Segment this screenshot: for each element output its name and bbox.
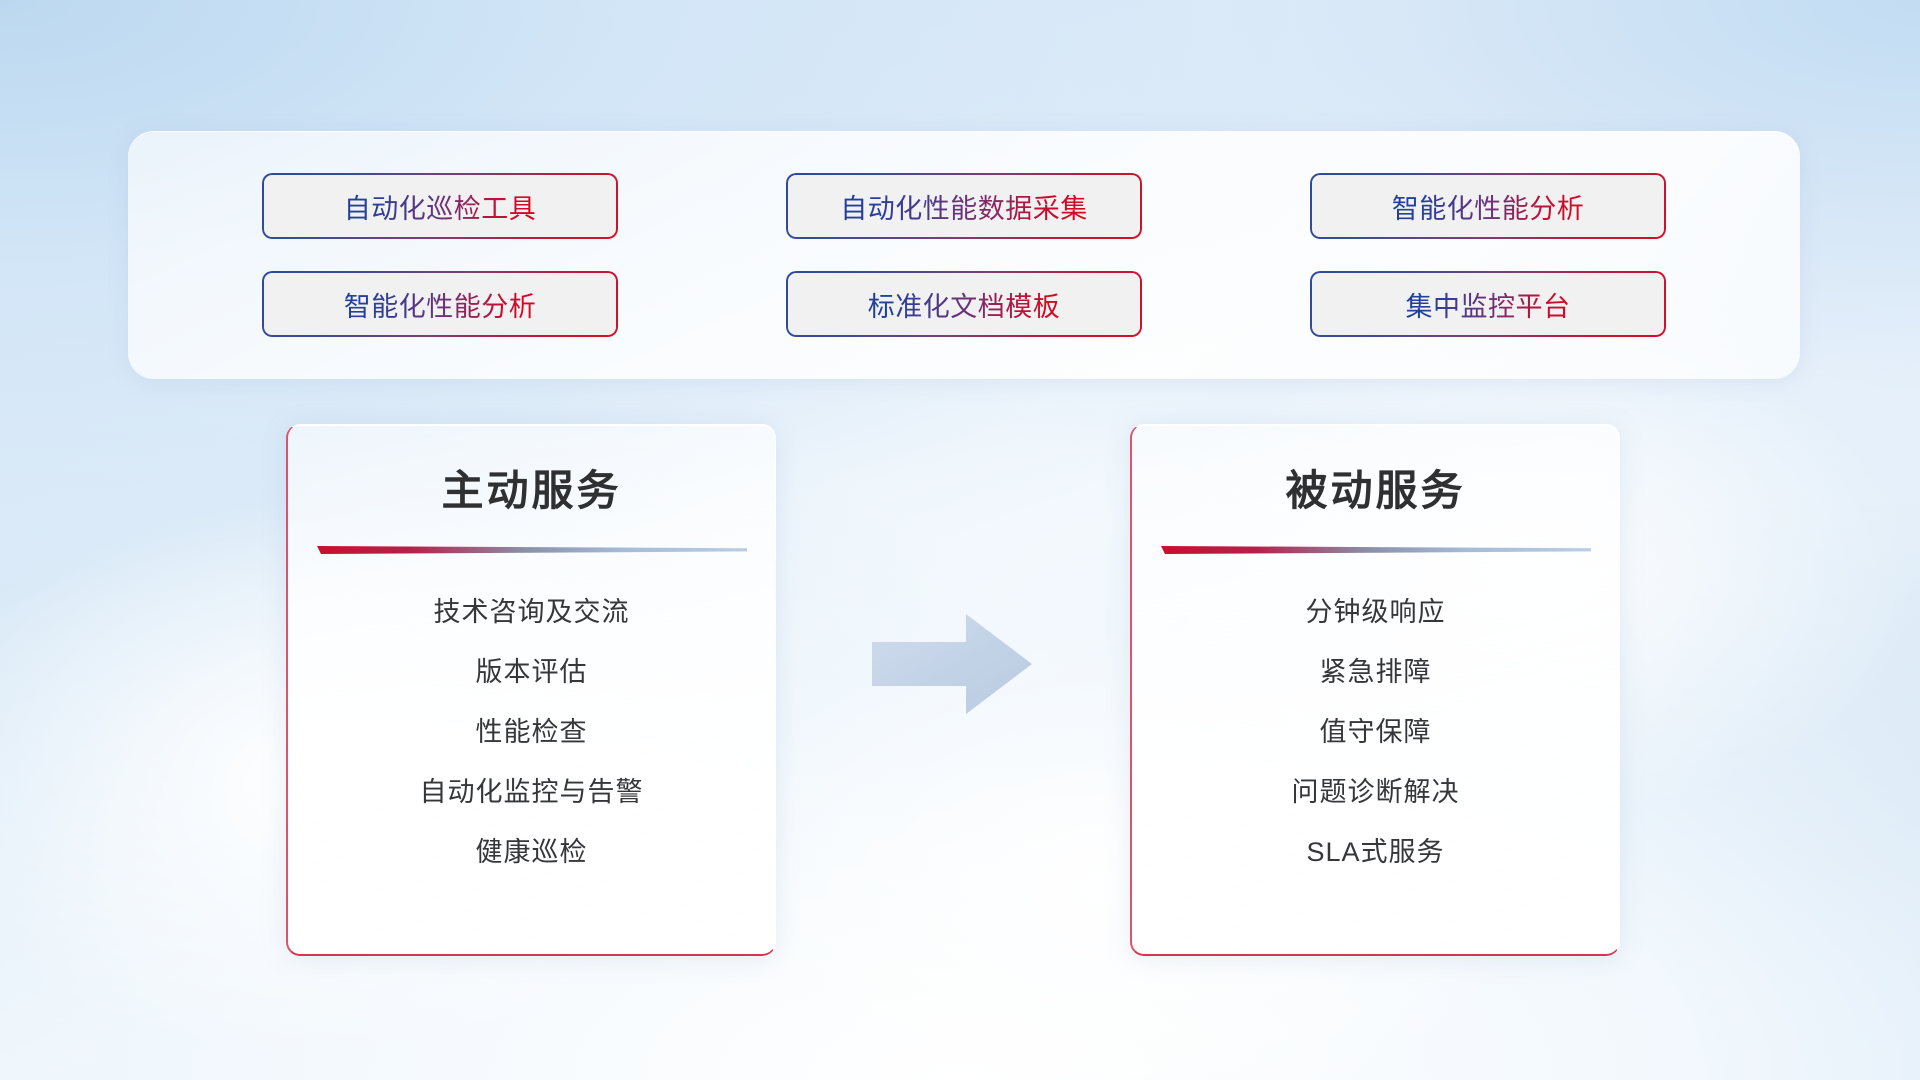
card-title: 主动服务 bbox=[288, 457, 775, 518]
card-title: 被动服务 bbox=[1132, 457, 1619, 518]
service-item: 健康巡检 bbox=[476, 830, 588, 869]
capability-pill-label: 标准化文档模板 bbox=[868, 285, 1061, 324]
service-item: 紧急排障 bbox=[1320, 650, 1432, 689]
service-item: SLA式服务 bbox=[1306, 830, 1444, 869]
capability-pill-label: 自动化性能数据采集 bbox=[840, 187, 1088, 226]
service-item: 自动化监控与告警 bbox=[420, 770, 644, 809]
capability-panel: 自动化巡检工具 自动化性能数据采集 智能化性能分析 智能化性能分析 标准化文档模… bbox=[128, 131, 1800, 379]
card-divider bbox=[1161, 544, 1591, 556]
capability-pill-label: 集中监控平台 bbox=[1406, 285, 1571, 324]
capability-pill-5[interactable]: 标准化文档模板 bbox=[786, 271, 1142, 337]
service-item-list: 分钟级响应 紧急排障 值守保障 问题诊断解决 SLA式服务 bbox=[1132, 590, 1619, 869]
service-item: 值守保障 bbox=[1320, 710, 1432, 749]
service-item-list: 技术咨询及交流 版本评估 性能检查 自动化监控与告警 健康巡检 bbox=[288, 590, 775, 869]
capability-pill-label: 智能化性能分析 bbox=[344, 285, 537, 324]
capability-pill-4[interactable]: 智能化性能分析 bbox=[262, 271, 618, 337]
service-item: 性能检查 bbox=[476, 710, 588, 749]
capability-pill-2[interactable]: 自动化性能数据采集 bbox=[786, 173, 1142, 239]
capability-pill-label: 自动化巡检工具 bbox=[344, 187, 537, 226]
card-divider bbox=[317, 544, 747, 556]
right-arrow-icon bbox=[872, 610, 1032, 718]
service-card-proactive: 主动服务 技术咨询及交流 版本评估 性能检查 自动化监控与告警 健康巡检 bbox=[286, 424, 776, 956]
service-item: 问题诊断解决 bbox=[1292, 770, 1460, 809]
service-item: 技术咨询及交流 bbox=[434, 590, 630, 629]
capability-pill-3[interactable]: 智能化性能分析 bbox=[1310, 173, 1666, 239]
service-item: 分钟级响应 bbox=[1306, 590, 1446, 629]
capability-pill-6[interactable]: 集中监控平台 bbox=[1310, 271, 1666, 337]
capability-pill-1[interactable]: 自动化巡检工具 bbox=[262, 173, 618, 239]
capability-pill-label: 智能化性能分析 bbox=[1392, 187, 1585, 226]
service-item: 版本评估 bbox=[476, 650, 588, 689]
service-card-reactive: 被动服务 分钟级响应 紧急排障 值守保障 问题诊断解决 SLA式服务 bbox=[1130, 424, 1620, 956]
